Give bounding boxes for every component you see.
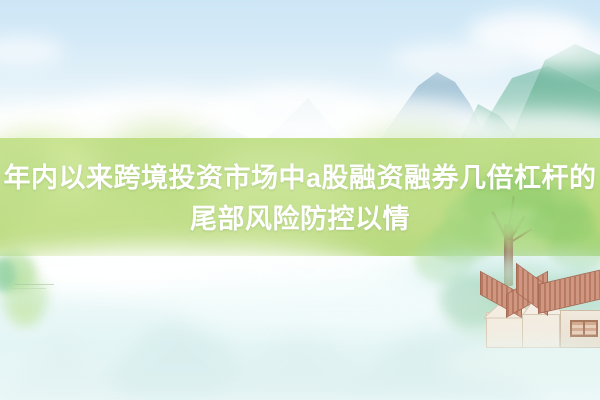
window-mullion xyxy=(583,320,585,337)
twig xyxy=(12,288,46,289)
poster-image: 年内以来跨境投资市场中a股融资融券几倍杠杆的 尾部风险防控以情 xyxy=(0,0,600,400)
house-wall xyxy=(522,314,560,348)
left-foliage xyxy=(0,248,62,340)
page-title: 年内以来跨境投资市场中a股融资融券几倍杠杆的 尾部风险防控以情 xyxy=(0,158,600,240)
twig xyxy=(14,284,54,285)
foliage-blob xyxy=(10,300,40,328)
